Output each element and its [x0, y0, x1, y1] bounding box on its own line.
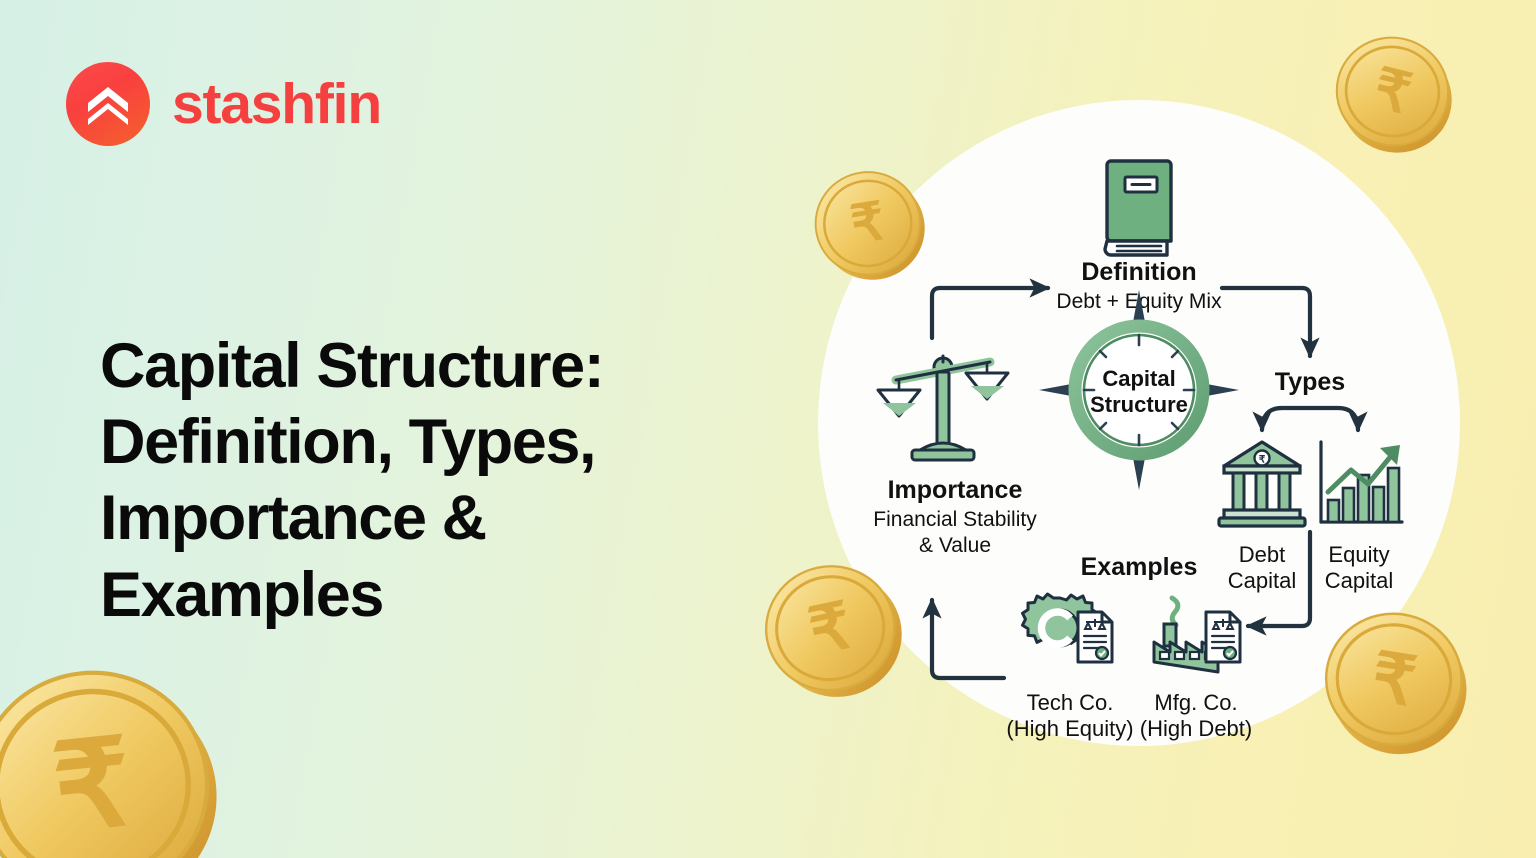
node-examples: Examples T	[1006, 553, 1252, 741]
rupee-coin-icon: ₹	[803, 155, 937, 296]
book-icon	[1105, 161, 1171, 255]
importance-subtitle-line2: & Value	[919, 534, 991, 557]
brand-logo[interactable]: stashfin	[66, 62, 381, 146]
debt-capital-label-line2: Capital	[1228, 568, 1296, 593]
headline-line-3: Importance &	[100, 483, 486, 553]
rupee-coin-icon: ₹	[0, 648, 235, 858]
bank-rupee-icon: ₹	[1219, 442, 1305, 526]
types-title: Types	[1275, 368, 1345, 396]
center-label-line2: Structure	[1090, 392, 1188, 417]
headline-line-2: Definition, Types,	[100, 407, 595, 477]
balance-scale-icon	[878, 356, 1008, 460]
gear-document-icon	[1023, 594, 1113, 662]
subnode-debt-capital: ₹ Debt Capital	[1219, 442, 1305, 593]
node-definition: Definition Debt + Equity Mix	[1056, 161, 1222, 313]
types-branch-lines	[1262, 408, 1358, 430]
definition-title: Definition	[1081, 258, 1196, 286]
svg-text:₹: ₹	[47, 714, 138, 856]
examples-title: Examples	[1081, 553, 1198, 581]
subnode-equity-capital: Equity Capital	[1321, 442, 1402, 593]
growth-chart-icon	[1321, 442, 1402, 522]
debt-capital-label-line1: Debt	[1239, 542, 1285, 567]
headline-line-4: Examples	[100, 560, 383, 630]
importance-subtitle-line1: Financial Stability	[873, 508, 1037, 531]
tech-co-label-line1: Tech Co.	[1027, 690, 1114, 715]
mfg-co-label-line1: Mfg. Co.	[1154, 690, 1237, 715]
rupee-coin-icon: ₹	[1311, 595, 1481, 768]
subnode-mfg-co: Mfg. Co. (High Debt)	[1140, 598, 1252, 741]
tech-co-label-line2: (High Equity)	[1006, 716, 1133, 741]
headline-line-1: Capital Structure:	[100, 331, 603, 401]
stacked-chevron-icon	[66, 62, 150, 146]
importance-title: Importance	[888, 476, 1023, 504]
compass-icon: Capital Structure	[1039, 290, 1239, 490]
arrow-importance-to-definition	[932, 288, 1048, 338]
brand-name: stashfin	[172, 76, 381, 133]
factory-document-icon	[1154, 598, 1240, 672]
equity-capital-label-line2: Capital	[1325, 568, 1393, 593]
node-importance: Importance Financial Stability & Value	[873, 356, 1037, 557]
svg-text:₹: ₹	[1259, 455, 1266, 466]
subnode-tech-co: Tech Co. (High Equity)	[1006, 594, 1133, 741]
page-title: Capital Structure: Definition, Types, Im…	[100, 328, 740, 633]
equity-capital-label-line1: Equity	[1328, 542, 1389, 567]
arrow-definition-to-types	[1222, 288, 1310, 356]
rupee-coin-icon: ₹	[749, 543, 917, 717]
mfg-co-label-line2: (High Debt)	[1140, 716, 1252, 741]
arrow-examples-to-importance	[932, 600, 1004, 678]
center-label-line1: Capital	[1102, 366, 1175, 391]
